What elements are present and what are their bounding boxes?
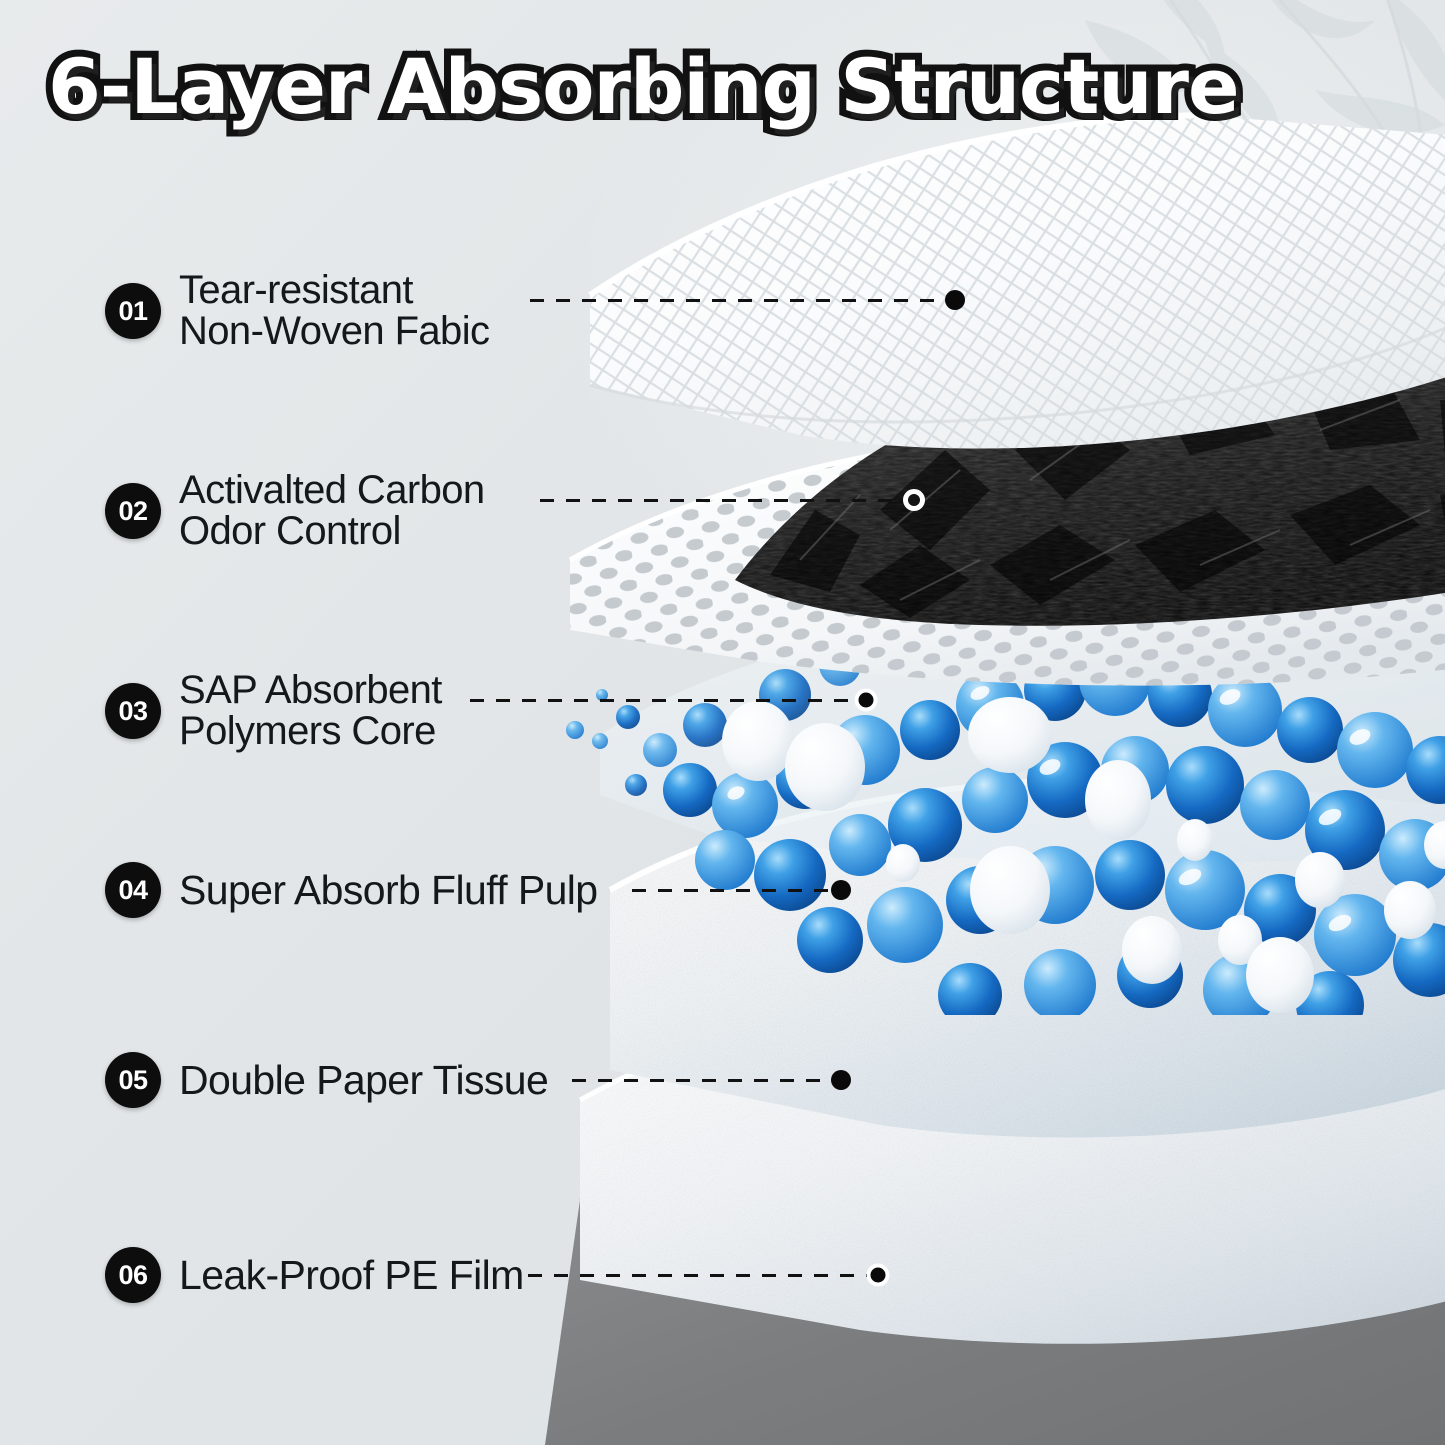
layer-label-text-04: Super Absorb Fluff Pulp	[179, 869, 597, 911]
leader-line-03	[470, 699, 860, 702]
layer-label-text-02: Activalted Carbon Odor Control	[179, 470, 485, 552]
layer-badge-04: 04	[105, 862, 161, 918]
leader-line-06	[528, 1274, 870, 1277]
layer-badge-02: 02	[105, 483, 161, 539]
layer-1-non-woven-fabric	[580, 105, 1445, 485]
leader-dot-03	[859, 693, 874, 708]
layer-badge-01: 01	[105, 283, 161, 339]
layer-label-text-05: Double Paper Tissue	[179, 1059, 548, 1101]
layer-label-06[interactable]: 06 Leak-Proof PE Film	[105, 1247, 524, 1303]
layer-badge-05: 05	[105, 1052, 161, 1108]
layer-label-03[interactable]: 03 SAP Absorbent Polymers Core	[105, 670, 442, 752]
leader-dot-04	[831, 880, 851, 900]
leader-dot-01	[945, 290, 965, 310]
page-title: 6-Layer Absorbing Structure	[48, 42, 1239, 131]
leader-line-02	[540, 499, 908, 502]
layer-label-05[interactable]: 05 Double Paper Tissue	[105, 1052, 548, 1108]
leader-line-01	[530, 299, 950, 302]
leader-dot-06	[871, 1268, 886, 1283]
layer-label-01[interactable]: 01 Tear-resistant Non-Woven Fabic	[105, 270, 489, 352]
layer-label-text-06: Leak-Proof PE Film	[179, 1254, 524, 1296]
leader-dot-02	[903, 489, 925, 511]
leader-line-04	[632, 889, 832, 892]
layer-label-text-03: SAP Absorbent Polymers Core	[179, 670, 442, 752]
leader-dot-05	[831, 1070, 851, 1090]
leader-line-05	[572, 1079, 832, 1082]
layer-label-04[interactable]: 04 Super Absorb Fluff Pulp	[105, 862, 597, 918]
layer-label-02[interactable]: 02 Activalted Carbon Odor Control	[105, 470, 485, 552]
layer-label-text-01: Tear-resistant Non-Woven Fabic	[179, 270, 489, 352]
infographic-canvas: 6-Layer Absorbing Structure 01 Tear-resi…	[0, 0, 1445, 1445]
layer-badge-06: 06	[105, 1247, 161, 1303]
layer-badge-03: 03	[105, 683, 161, 739]
